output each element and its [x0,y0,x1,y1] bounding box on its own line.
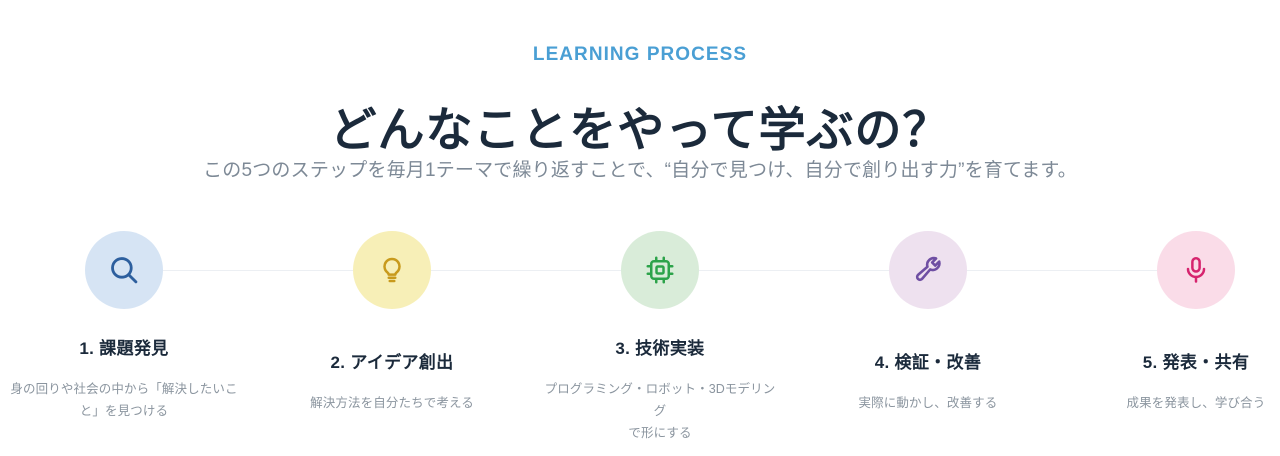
process-step-description: 解決方法を自分たちで考える [272,393,512,415]
process-step-title: 2. アイデア創出 [272,348,512,373]
cpu-icon-glyph [645,255,675,285]
process-step-2[interactable]: 2. アイデア創出解決方法を自分たちで考える [272,231,512,415]
process-step-title: 3. 技術実装 [540,334,780,359]
process-step-description-line: 解決方法を自分たちで考える [272,393,512,415]
search-icon-bubble [85,231,163,309]
process-step-3[interactable]: 3. 技術実装プログラミング・ロボット・3Dモデリングで形にする [540,231,780,445]
cpu-icon-bubble [621,231,699,309]
search-icon-glyph [107,253,141,287]
process-step-description: 実際に動かし、改善する [808,393,1048,415]
microphone-icon-glyph [1181,255,1211,285]
wrench-icon-glyph [913,255,944,286]
lightbulb-icon-glyph [377,255,407,285]
process-step-description-line: 身の回りや社会の中から「解決したいこ [4,379,244,401]
process-step-description-line: プログラミング・ロボット・3Dモデリング [540,379,780,423]
lightbulb-icon-bubble [353,231,431,309]
process-step-description-line: で形にする [540,423,780,445]
process-steps: 1. 課題発見身の回りや社会の中から「解決したいこと」を見つける2. アイデア創… [0,0,1280,456]
process-step-description-line: 成果を発表し、学び合う [1076,393,1280,415]
process-step-description-line: と」を見つける [4,401,244,423]
microphone-icon-bubble [1157,231,1235,309]
process-step-4[interactable]: 4. 検証・改善実際に動かし、改善する [808,231,1048,415]
process-step-5[interactable]: 5. 発表・共有成果を発表し、学び合う [1076,231,1280,415]
process-step-title: 5. 発表・共有 [1076,348,1280,373]
process-step-title: 1. 課題発見 [4,334,244,359]
learning-process-section: LEARNING PROCESS どんなことをやって学ぶの？ この5つのステップ… [0,0,1280,456]
process-step-title: 4. 検証・改善 [808,348,1048,373]
process-step-description: 成果を発表し、学び合う [1076,393,1280,415]
process-step-description-line: 実際に動かし、改善する [808,393,1048,415]
process-step-description: プログラミング・ロボット・3Dモデリングで形にする [540,379,780,445]
wrench-icon-bubble [889,231,967,309]
process-step-1[interactable]: 1. 課題発見身の回りや社会の中から「解決したいこと」を見つける [4,231,244,423]
process-step-description: 身の回りや社会の中から「解決したいこと」を見つける [4,379,244,423]
